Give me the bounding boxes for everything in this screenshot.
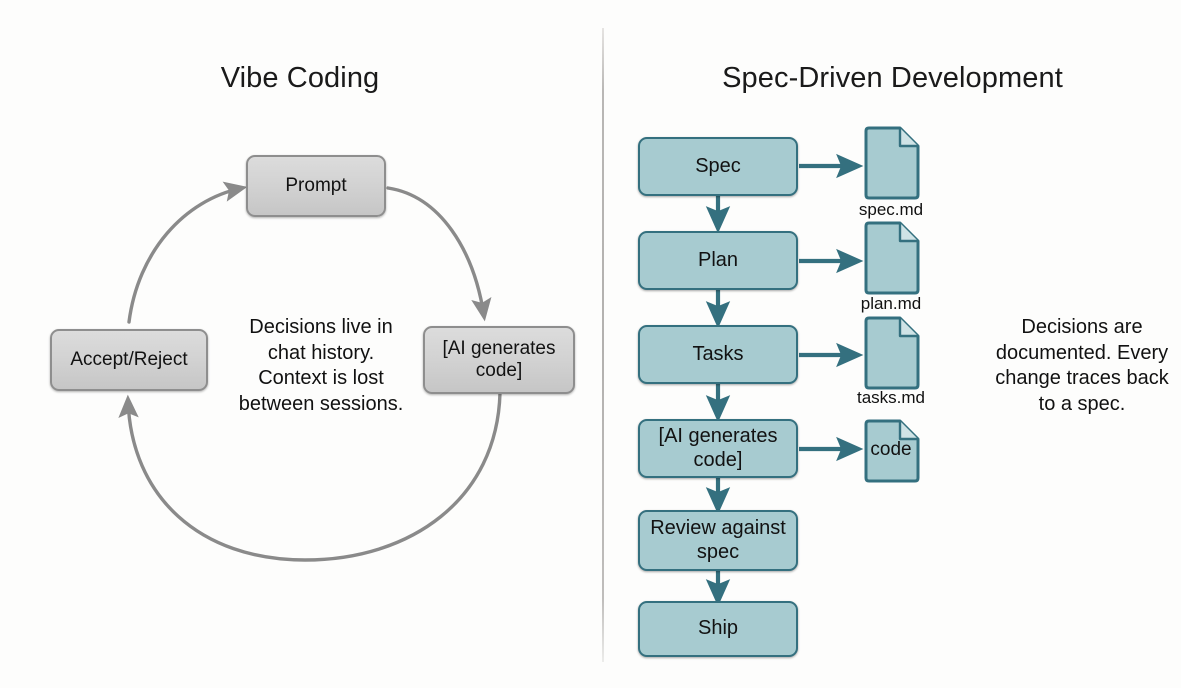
node-plan[interactable]: Plan (638, 231, 798, 290)
node-ai-generates-code-left[interactable]: [AI generates code] (423, 326, 575, 394)
node-plan-label: Plan (698, 249, 738, 273)
note-spec-driven: Decisions are documented. Every change t… (984, 315, 1180, 417)
node-accept-reject-label: Accept/Reject (70, 349, 187, 371)
node-review-against-spec[interactable]: Review against spec (638, 510, 798, 571)
panel-divider (602, 28, 604, 662)
panel-title-vibe-coding: Vibe Coding (0, 62, 600, 95)
node-spec-label: Spec (695, 155, 741, 179)
doc-tasks-md[interactable] (862, 316, 920, 392)
doc-code[interactable]: code (862, 419, 920, 485)
doc-plan-md-label: plan.md (831, 294, 951, 314)
node-ship[interactable]: Ship (638, 601, 798, 657)
node-ai-generates-code-left-label: [AI generates code] (442, 338, 555, 383)
document-icon (862, 126, 920, 202)
node-ai-generates-code-right[interactable]: [AI generates code] (638, 419, 798, 478)
doc-plan-md[interactable] (862, 221, 920, 297)
panel-title-spec-driven-development: Spec-Driven Development (604, 62, 1181, 95)
node-prompt[interactable]: Prompt (246, 155, 386, 217)
document-icon (862, 316, 920, 392)
node-ai-generates-code-right-label: [AI generates code] (659, 425, 778, 472)
node-accept-reject[interactable]: Accept/Reject (50, 329, 208, 391)
doc-tasks-md-label: tasks.md (831, 388, 951, 408)
diagram-canvas: Vibe Coding Spec-Driven Development Prom… (0, 0, 1181, 688)
node-review-against-spec-label: Review against spec (650, 517, 786, 564)
document-icon (862, 419, 920, 485)
document-icon (862, 221, 920, 297)
arc-prompt-to-ai (388, 188, 484, 316)
node-tasks[interactable]: Tasks (638, 325, 798, 384)
doc-spec-md[interactable] (862, 126, 920, 202)
arc-accept-reject-to-prompt (129, 188, 242, 322)
node-tasks-label: Tasks (692, 343, 743, 367)
note-vibe-coding: Decisions live in chat history. Context … (228, 315, 414, 417)
node-spec[interactable]: Spec (638, 137, 798, 196)
arc-ai-to-accept-reject (128, 393, 500, 560)
node-prompt-label: Prompt (285, 175, 346, 197)
doc-spec-md-label: spec.md (831, 200, 951, 220)
node-ship-label: Ship (698, 617, 738, 641)
